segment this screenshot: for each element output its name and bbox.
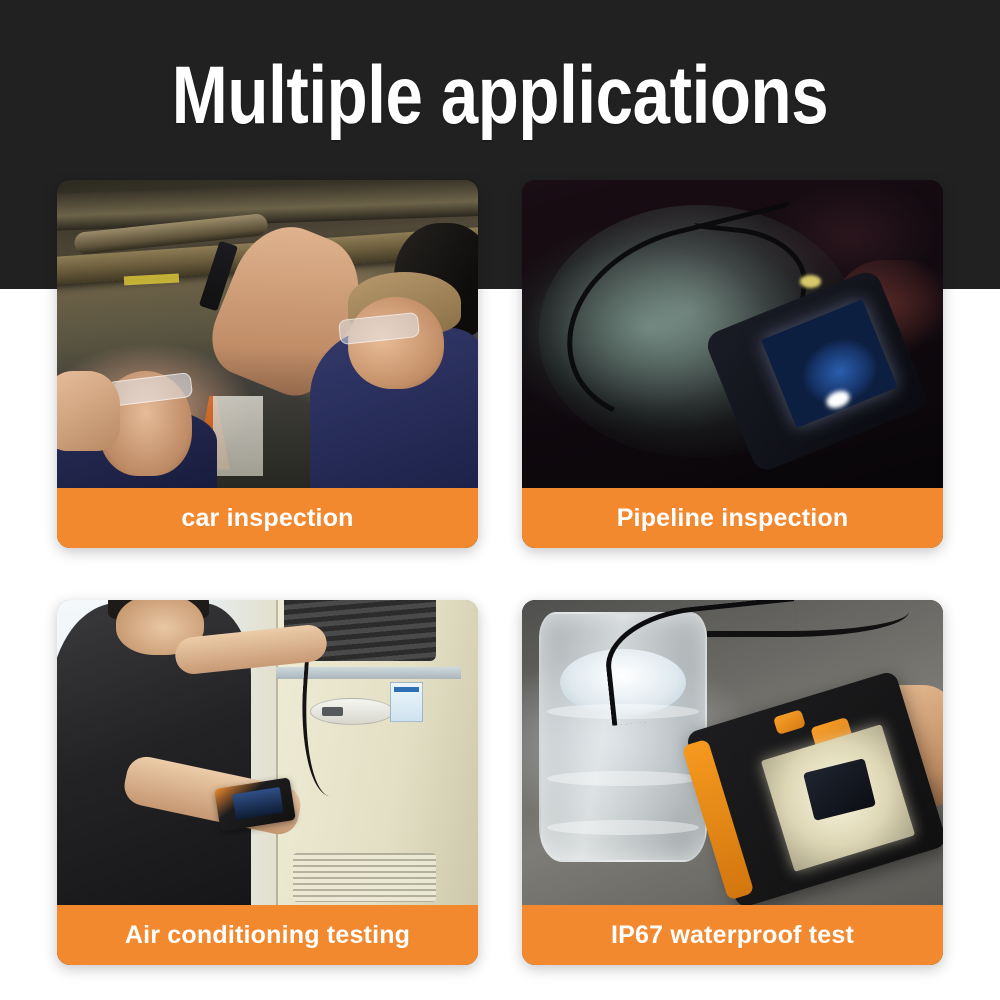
card-label-air-conditioning-testing: Air conditioning testing bbox=[57, 905, 478, 965]
card-label-pipeline-inspection: Pipeline inspection bbox=[522, 488, 943, 548]
application-card-ip67-waterproof-test[interactable]: IP67 waterproof test bbox=[522, 600, 943, 965]
page-title: Multiple applications bbox=[90, 48, 910, 144]
ip67-waterproof-test-photo bbox=[522, 600, 943, 905]
application-card-air-conditioning-testing[interactable]: Air conditioning testing bbox=[57, 600, 478, 965]
air-conditioning-testing-photo bbox=[57, 600, 478, 905]
application-card-pipeline-inspection[interactable]: Pipeline inspection bbox=[522, 180, 943, 548]
application-card-grid: car inspection Pipeline inspection bbox=[57, 180, 943, 965]
application-card-car-inspection[interactable]: car inspection bbox=[57, 180, 478, 548]
pipeline-inspection-photo bbox=[522, 180, 943, 488]
car-inspection-photo bbox=[57, 180, 478, 488]
card-label-ip67-waterproof-test: IP67 waterproof test bbox=[522, 905, 943, 965]
card-label-car-inspection: car inspection bbox=[57, 488, 478, 548]
